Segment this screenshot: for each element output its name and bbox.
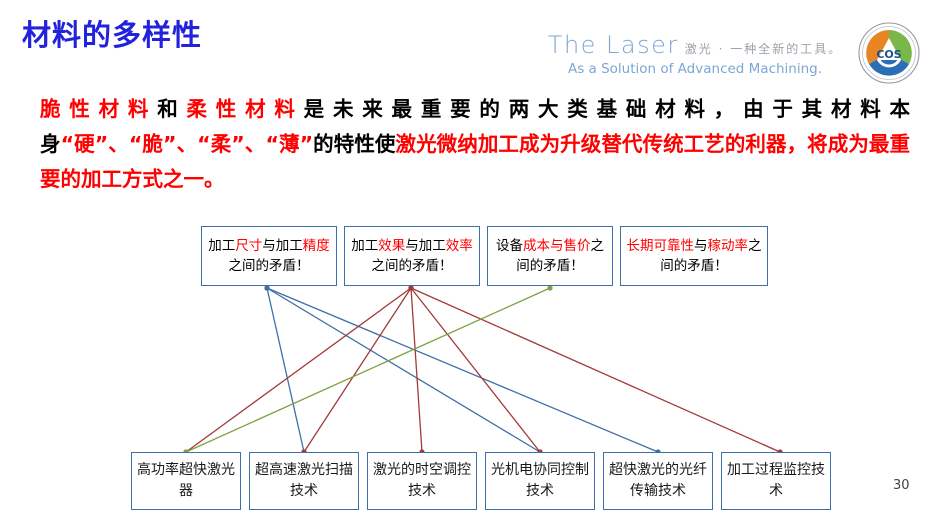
connector-red-to-spatiotemporal <box>411 288 422 452</box>
bottom-node-tech-process-monitoring[interactable]: 加工过程监控技术 <box>721 452 831 510</box>
top-node-3-seg-0: 长期可靠性 <box>627 238 695 254</box>
bottom-node-tech-fiber-delivery[interactable]: 超快激光的光纤传输技术 <box>603 452 713 510</box>
connector-endpoint-red-to-high-power-laser-0 <box>408 285 413 290</box>
top-node-2-seg-0: 设备 <box>496 238 523 254</box>
top-node-1-seg-2: 与加工 <box>405 238 446 254</box>
connector-endpoint-red-to-scanning-0 <box>408 285 413 290</box>
top-node-2-seg-1: 成本与售价 <box>523 238 591 254</box>
connector-blue-to-scanning <box>267 288 304 452</box>
page-title: 材料的多样性 <box>22 12 202 54</box>
connector-endpoint-blue-to-opto-mechatronic-0 <box>264 285 269 290</box>
top-node-0-seg-4: 之间的矛盾！ <box>229 258 310 274</box>
bottom-node-tech-opto-mechatronic-control[interactable]: 光机电协同控制技术 <box>485 452 595 510</box>
top-node-label: 加工效果与加工效率之间的矛盾！ <box>349 236 475 276</box>
top-node-3-seg-1: 与 <box>694 238 708 254</box>
connector-endpoint-blue-to-fiber-delivery-0 <box>264 285 269 290</box>
top-node-0-seg-2: 与加工 <box>262 238 303 254</box>
brand-line-primary: The Laser激光 · 一种全新的工具。 <box>540 32 850 60</box>
top-node-1-seg-0: 加工 <box>351 238 378 254</box>
connector-endpoint-red-to-process-monitoring-0 <box>408 285 413 290</box>
connector-endpoint-red-to-opto-mechatronic-0 <box>408 285 413 290</box>
top-node-contradiction-size-precision[interactable]: 加工尺寸与加工精度之间的矛盾！ <box>201 226 337 286</box>
top-node-label: 设备成本与售价之间的矛盾！ <box>492 236 608 276</box>
bottom-node-label: 超高速激光扫描技术 <box>253 460 355 502</box>
connector-red-to-high-power-laser <box>186 288 411 452</box>
body-text-seg-4: “硬”、“脆”、“柔”、“薄” <box>61 132 313 156</box>
top-node-0-seg-1: 尺寸 <box>235 238 262 254</box>
bottom-node-label: 加工过程监控技术 <box>725 460 827 502</box>
top-node-contradiction-cost-price[interactable]: 设备成本与售价之间的矛盾！ <box>487 226 613 286</box>
top-node-0-seg-3: 精度 <box>303 238 330 254</box>
bottom-node-label: 超快激光的光纤传输技术 <box>607 460 709 502</box>
bottom-node-tech-spatiotemporal-control[interactable]: 激光的时空调控技术 <box>367 452 477 510</box>
body-paragraph: 脆性材料和柔性材料是未来最重要的两大类基础材料，由于其材料本身“硬”、“脆”、“… <box>40 92 910 197</box>
connector-endpoint-blue-to-scanning-0 <box>264 285 269 290</box>
top-node-0-seg-0: 加工 <box>208 238 235 254</box>
brand-header: The Laser激光 · 一种全新的工具。 As a Solution of … <box>540 32 850 77</box>
top-node-label: 加工尺寸与加工精度之间的矛盾！ <box>206 236 332 276</box>
top-node-1-seg-3: 效率 <box>446 238 473 254</box>
page-number: 30 <box>893 478 910 493</box>
connector-endpoint-green-to-high-power-laser-0 <box>547 285 552 290</box>
connector-red-to-process-monitoring <box>411 288 780 452</box>
connector-green-to-high-power-laser <box>186 288 550 452</box>
body-text-seg-1: 和 <box>157 97 186 121</box>
cos-logo-icon: COS <box>858 22 920 84</box>
bottom-node-label: 光机电协同控制技术 <box>489 460 591 502</box>
bottom-node-label: 高功率超快激光器 <box>135 460 237 502</box>
bottom-node-tech-high-power-ultrafast-laser[interactable]: 高功率超快激光器 <box>131 452 241 510</box>
body-text-seg-5: 的特性使 <box>313 132 395 156</box>
top-node-contradiction-reliability-utilization[interactable]: 长期可靠性与稼动率之间的矛盾！ <box>620 226 768 286</box>
svg-text:COS: COS <box>876 48 901 61</box>
top-node-1-seg-4: 之间的矛盾！ <box>372 258 453 274</box>
brand-chinese-tagline: 激光 · 一种全新的工具。 <box>685 42 842 56</box>
top-node-1-seg-1: 效果 <box>378 238 405 254</box>
bottom-node-label: 激光的时空调控技术 <box>371 460 473 502</box>
body-text-seg-0: 脆性材料 <box>40 97 157 121</box>
bottom-node-tech-ultra-high-speed-scanning[interactable]: 超高速激光扫描技术 <box>249 452 359 510</box>
top-node-contradiction-effect-efficiency[interactable]: 加工效果与加工效率之间的矛盾！ <box>344 226 480 286</box>
connector-red-to-opto-mechatronic <box>411 288 540 452</box>
top-node-label: 长期可靠性与稼动率之间的矛盾！ <box>625 236 763 276</box>
connector-blue-to-opto-mechatronic <box>267 288 540 452</box>
body-text-seg-2: 柔性材料 <box>186 97 303 121</box>
connector-red-to-scanning <box>304 288 411 452</box>
connector-endpoint-red-to-spatiotemporal-0 <box>408 285 413 290</box>
brand-main-text: The Laser <box>548 31 679 59</box>
brand-subtitle: As a Solution of Advanced Machining. <box>540 62 850 78</box>
connector-blue-to-fiber-delivery <box>267 288 658 452</box>
top-node-3-seg-2: 稼动率 <box>708 238 749 254</box>
